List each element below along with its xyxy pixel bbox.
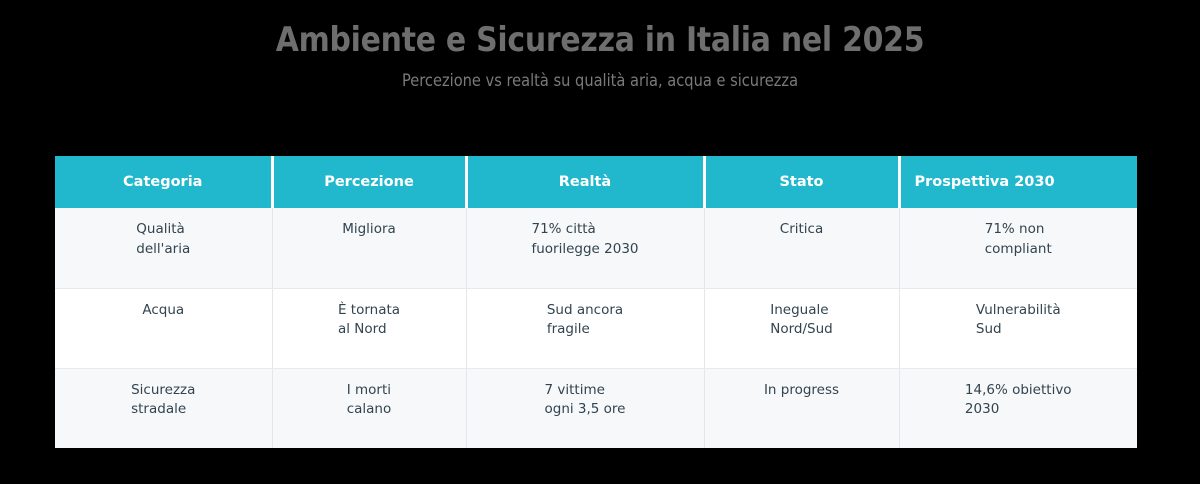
cell-prospettiva: Vulnerabilità Sud [899, 288, 1137, 368]
cell-prospettiva: 71% non compliant [899, 208, 1137, 288]
cell-prospettiva: 14,6% obiettivo 2030 [899, 368, 1137, 448]
cell-text: 71% non compliant [985, 220, 1052, 259]
page-title: Ambiente e Sicurezza in Italia nel 2025 [72, 0, 1128, 59]
cell-text: 71% città fuorilegge 2030 [531, 220, 638, 259]
cell-percezione: Migliora [272, 208, 466, 288]
column-header-categoria[interactable]: Categoria [55, 156, 272, 208]
column-header-percezione[interactable]: Percezione [272, 156, 466, 208]
table-row: Qualità dell'aria Migliora 71% città fuo… [55, 208, 1137, 288]
page-subtitle: Percezione vs realtà su qualità aria, ac… [84, 59, 1116, 91]
cell-text: In progress [764, 381, 839, 401]
cell-stato: Ineguale Nord/Sud [704, 288, 899, 368]
table-container: Categoria Percezione Realtà Stato Prospe… [55, 156, 1137, 450]
cell-realta: 7 vittime ogni 3,5 ore [466, 368, 704, 448]
cell-stato: In progress [704, 368, 899, 448]
cell-percezione: È tornata al Nord [272, 288, 466, 368]
cell-realta: 71% città fuorilegge 2030 [466, 208, 704, 288]
cell-text: Acqua [142, 301, 184, 321]
cell-stato: Critica [704, 208, 899, 288]
data-table: Categoria Percezione Realtà Stato Prospe… [55, 156, 1137, 448]
cell-text: I morti calano [347, 381, 392, 420]
table-body: Qualità dell'aria Migliora 71% città fuo… [55, 208, 1137, 448]
cell-text: Migliora [342, 220, 396, 240]
cell-categoria: Qualità dell'aria [55, 208, 272, 288]
column-header-realta[interactable]: Realtà [466, 156, 704, 208]
title-block: Ambiente e Sicurezza in Italia nel 2025 … [0, 0, 1200, 91]
table-row: Sicurezza stradale I morti calano 7 vitt… [55, 368, 1137, 448]
table-header-row: Categoria Percezione Realtà Stato Prospe… [55, 156, 1137, 208]
column-header-prospettiva[interactable]: Prospettiva 2030 [899, 156, 1137, 208]
page-root: Ambiente e Sicurezza in Italia nel 2025 … [0, 0, 1200, 484]
cell-text: Qualità dell'aria [136, 220, 190, 259]
cell-text: Sicurezza stradale [131, 381, 195, 420]
column-header-stato[interactable]: Stato [704, 156, 899, 208]
cell-text: Vulnerabilità Sud [976, 301, 1061, 340]
cell-text: È tornata al Nord [338, 301, 400, 340]
cell-text: Ineguale Nord/Sud [770, 301, 832, 340]
cell-text: Critica [780, 220, 823, 240]
cell-text: 14,6% obiettivo 2030 [965, 381, 1072, 420]
cell-text: 7 vittime ogni 3,5 ore [544, 381, 625, 420]
cell-realta: Sud ancora fragile [466, 288, 704, 368]
cell-categoria: Sicurezza stradale [55, 368, 272, 448]
cell-text: Sud ancora fragile [547, 301, 623, 340]
cell-percezione: I morti calano [272, 368, 466, 448]
cell-categoria: Acqua [55, 288, 272, 368]
table-row: Acqua È tornata al Nord Sud ancora fragi… [55, 288, 1137, 368]
table-header: Categoria Percezione Realtà Stato Prospe… [55, 156, 1137, 208]
